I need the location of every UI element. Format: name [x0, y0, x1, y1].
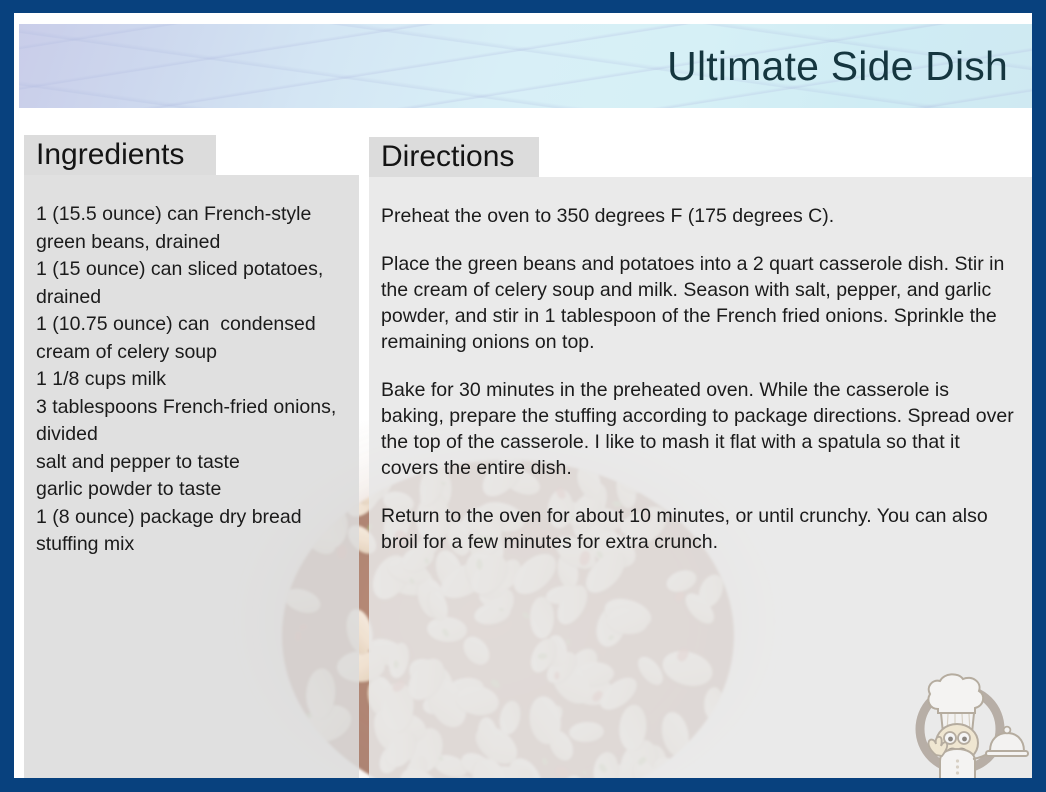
ingredient-item: salt and pepper to taste [36, 449, 343, 477]
page-title: Ultimate Side Dish [667, 46, 1008, 87]
directions-steps: Preheat the oven to 350 degrees F (175 d… [381, 203, 1014, 555]
ingredient-item: 1 1/8 cups milk [36, 366, 343, 394]
direction-step: Preheat the oven to 350 degrees F (175 d… [381, 203, 1014, 229]
ingredients-list: 1 (15.5 ounce) can French-style green be… [36, 201, 343, 559]
ingredient-item: 1 (10.75 ounce) can condensed cream of c… [36, 311, 343, 366]
recipe-card: Ultimate Side Dish Ingredients 1 (15.5 o… [0, 0, 1046, 792]
chef-with-cloche-logo [900, 651, 1032, 778]
ingredients-heading-tab: Ingredients [24, 135, 216, 175]
card-canvas: Ultimate Side Dish Ingredients 1 (15.5 o… [14, 13, 1032, 778]
ingredients-panel: 1 (15.5 ounce) can French-style green be… [24, 175, 359, 778]
header-band: Ultimate Side Dish [19, 24, 1032, 108]
ingredient-item: 1 (8 ounce) package dry bread stuffing m… [36, 504, 343, 559]
ingredient-item: garlic powder to taste [36, 476, 343, 504]
directions-heading-label: Directions [381, 142, 514, 172]
ingredient-item: 3 tablespoons French-fried onions, divid… [36, 394, 343, 449]
ingredients-heading-label: Ingredients [36, 140, 184, 170]
direction-step: Place the green beans and potatoes into … [381, 251, 1014, 355]
direction-step: Return to the oven for about 10 minutes,… [381, 503, 1014, 555]
directions-heading-tab: Directions [369, 137, 539, 177]
ingredient-item: 1 (15 ounce) can sliced potatoes, draine… [36, 256, 343, 311]
direction-step: Bake for 30 minutes in the preheated ove… [381, 377, 1014, 481]
ingredient-item: 1 (15.5 ounce) can French-style green be… [36, 201, 343, 256]
